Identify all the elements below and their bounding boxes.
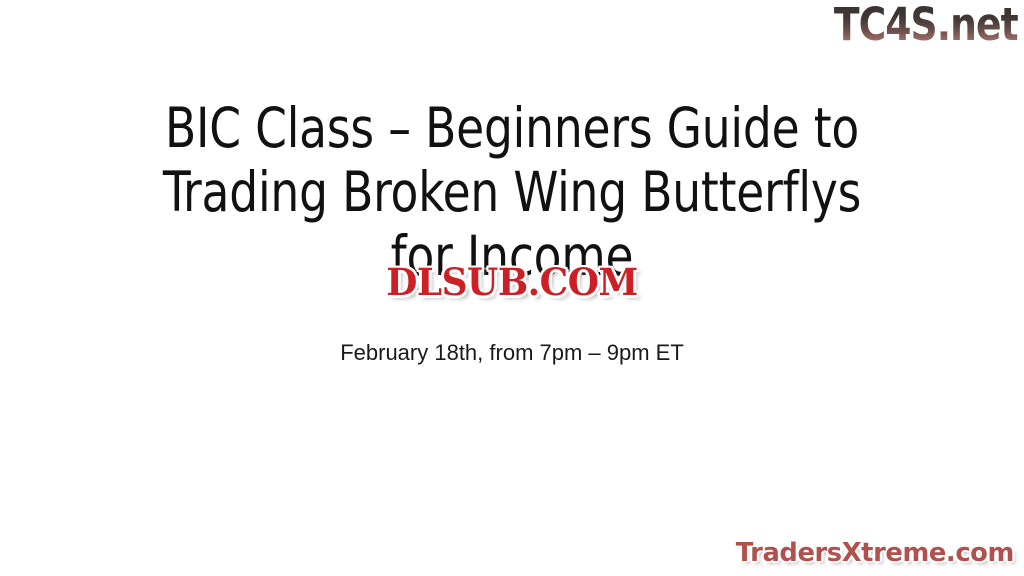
presentation-slide: BIC Class – Beginners Guide to Trading B…: [0, 0, 1024, 576]
title-line-2: Trading Broken Wing Butterflys: [41, 160, 983, 224]
title-line-1: BIC Class – Beginners Guide to: [41, 96, 983, 160]
watermark-dlsub: DLSUB.COM: [15, 262, 1008, 302]
watermark-tc4s: TC4S.net: [834, 2, 1018, 48]
watermark-tradersxtreme: TradersXtreme.com: [736, 538, 1014, 568]
slide-subtitle: February 18th, from 7pm – 9pm ET: [0, 339, 1024, 367]
